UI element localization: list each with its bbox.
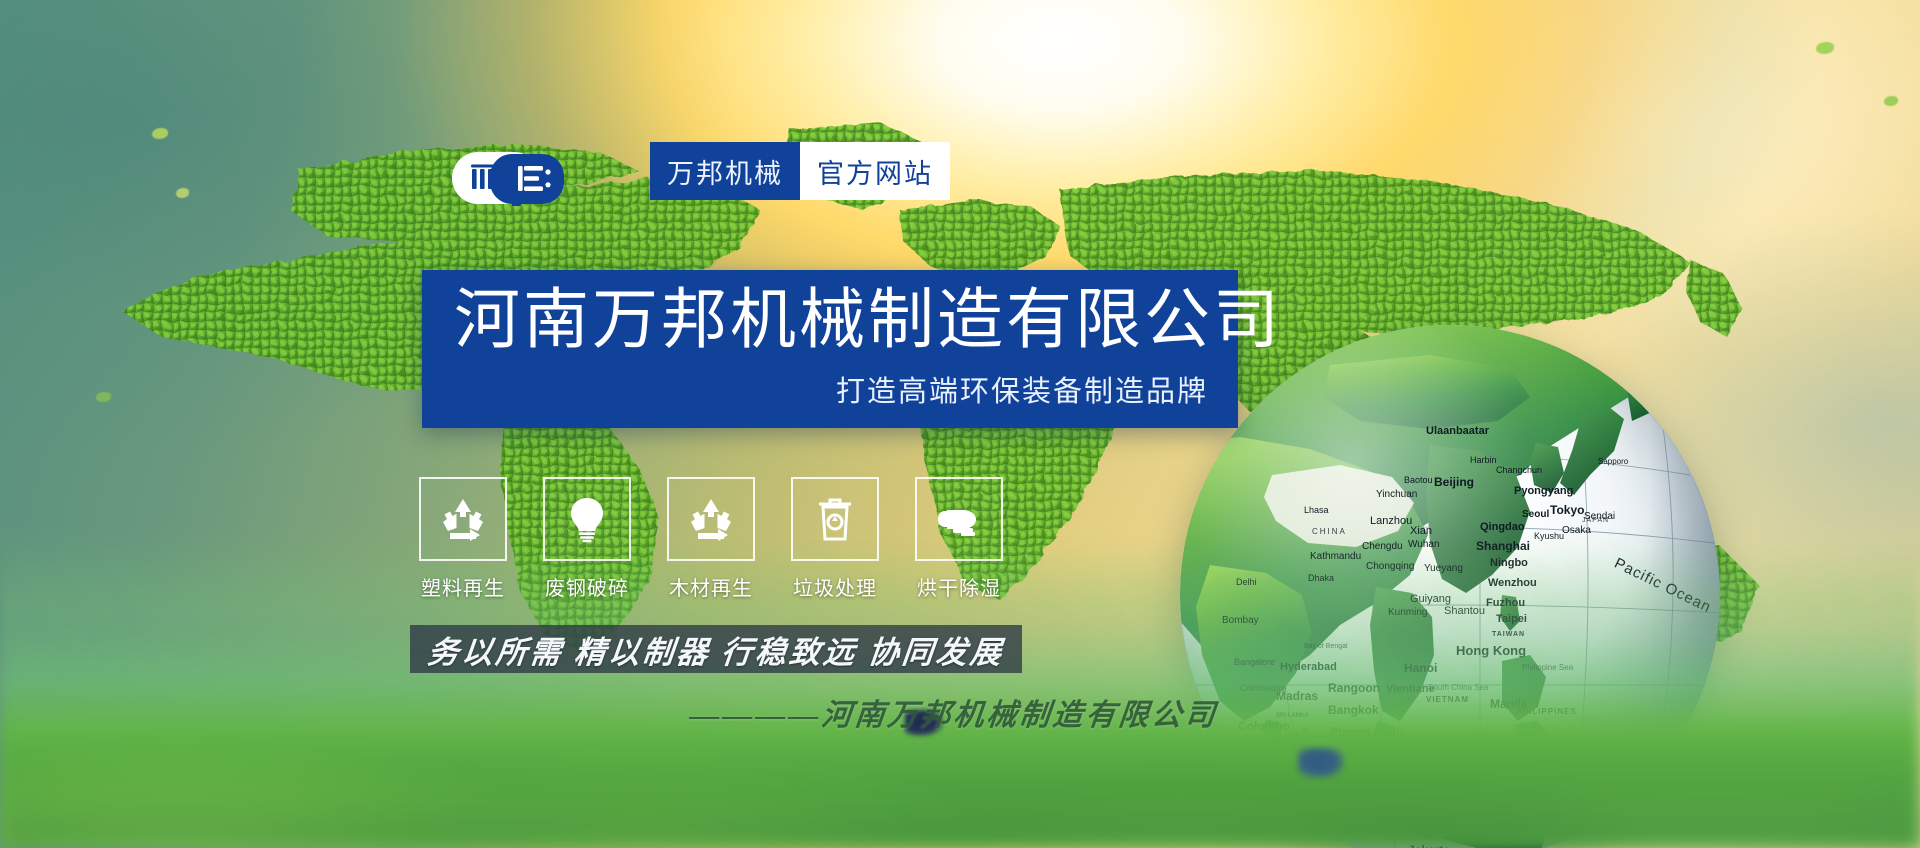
hero-banner: Pacific Ocean Indian Ocean South China S…	[0, 0, 1920, 848]
feature-label: 废钢破碎	[545, 572, 629, 601]
feature-label: 烘干除湿	[917, 572, 1001, 601]
slogan-text: 务以所需 精以制器 行稳致远 协同发展	[426, 627, 1007, 672]
grass-shadow	[0, 728, 1920, 848]
feature-item-wood-recycling[interactable]: 木材再生	[668, 477, 754, 601]
feature-item-scrap-steel-crushing[interactable]: 废钢破碎	[544, 477, 630, 601]
feature-item-waste-treatment[interactable]: 垃圾处理	[792, 477, 878, 601]
feature-icon-box[interactable]	[667, 477, 755, 561]
tab-wanbang-machinery[interactable]: 万邦机械	[650, 142, 800, 200]
trash-bin-recycle-icon	[811, 495, 859, 543]
lightbulb-icon	[563, 495, 611, 543]
feature-icon-box[interactable]	[419, 477, 507, 561]
company-title: 河南万邦机械制造有限公司	[454, 282, 1282, 358]
slogan-attribution: ————河南万邦机械制造有限公司	[688, 690, 1221, 734]
feature-item-plastic-recycling[interactable]: 塑料再生	[420, 477, 506, 601]
feature-icon-box[interactable]	[915, 477, 1003, 561]
site-logo[interactable]	[452, 150, 568, 206]
feature-icon-box[interactable]	[791, 477, 879, 561]
feature-label: 木材再生	[669, 572, 753, 601]
feature-icon-row: 塑料再生 废钢破碎	[420, 477, 1002, 601]
feature-label: 塑料再生	[421, 572, 505, 601]
nav-tabs[interactable]: 万邦机械 官方网站	[650, 142, 950, 200]
tab-official-website[interactable]: 官方网站	[800, 142, 950, 200]
feature-label: 垃圾处理	[793, 572, 877, 601]
recycle-icon	[439, 495, 487, 543]
feature-item-drying-dehumidifying[interactable]: 烘干除湿	[916, 477, 1002, 601]
feature-icon-box[interactable]	[543, 477, 631, 561]
recycle-icon	[687, 495, 735, 543]
slogan-band: 务以所需 精以制器 行稳致远 协同发展	[410, 625, 1022, 673]
blue-speck	[1298, 748, 1344, 778]
dryer-blower-icon	[935, 495, 983, 543]
title-banner: 河南万邦机械制造有限公司 打造高端环保装备制造品牌	[422, 270, 1238, 428]
company-subtitle: 打造高端环保装备制造品牌	[836, 368, 1208, 410]
